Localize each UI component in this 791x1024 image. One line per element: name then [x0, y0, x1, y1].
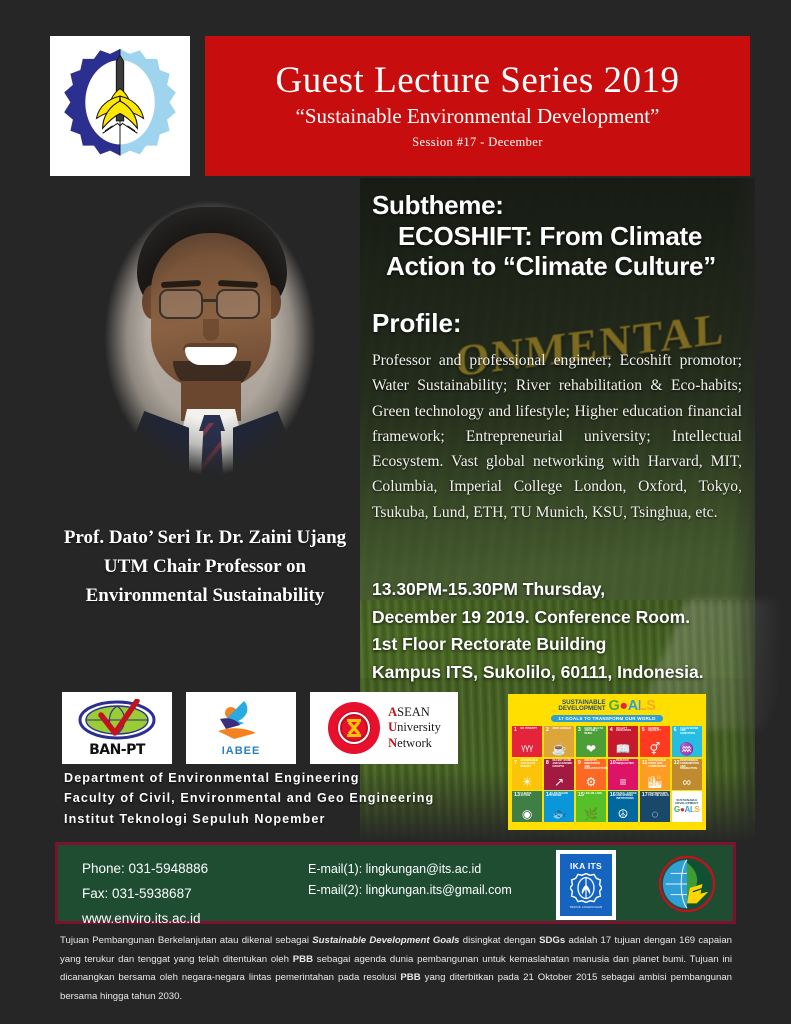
iabee-figure-icon [204, 699, 278, 743]
department-line1: Department of Environmental Engineering [64, 768, 494, 788]
aun-a: A [388, 705, 397, 719]
sdg-goal-16: 16PEACE, JUSTICE AND STRONG INSTITUTIONS… [608, 791, 638, 822]
sdg-goal-title: ZERO HUNGER [552, 728, 573, 731]
sdg-goal-number: 14 [546, 792, 552, 798]
content-column: Subtheme: ECOSHIFT: From Climate Action … [372, 190, 752, 525]
note-em-sdg: Sustainable Development Goals [312, 935, 459, 946]
sdg-goal-number: 12 [674, 760, 680, 766]
banpt-logo: BAN-PT [62, 692, 172, 764]
sdg-goal-icon: ◉ [512, 808, 542, 820]
note-part1: Tujuan Pembangunan Berkelanjutan atau di… [60, 935, 312, 946]
sdg-goal-title: SUSTAINABLE CITIES AND COMMUNITIES [648, 760, 669, 768]
sdg-goal-10: 10REDUCED INEQUALITIES≡ [608, 759, 638, 790]
event-campus: Kampus ITS, Sukolilo, 60111, Indonesia. [372, 659, 762, 687]
sdg-goal-icon: 🏙 [640, 776, 670, 788]
sdg-word-development: DEVELOPMENT [558, 706, 605, 713]
note-b-pbb2: PBB [400, 972, 420, 983]
sdg-note: Tujuan Pembangunan Berkelanjutan atau di… [60, 932, 732, 1007]
sdg-goal-number: 16 [610, 792, 616, 798]
sdg-goal-number: 3 [578, 727, 581, 733]
sdg-goal-icon: 🌿 [576, 808, 606, 820]
aun-niversity: niversity [397, 720, 441, 734]
contact-email-1[interactable]: E-mail(1): lingkungan@its.ac.id [308, 859, 512, 880]
sdg-goal-11: 11SUSTAINABLE CITIES AND COMMUNITIES🏙 [640, 759, 670, 790]
sdg-goal-number: 2 [546, 727, 549, 733]
sdg-goal-icon: ↗ [544, 776, 574, 788]
sdg-goal-17: 17PARTNERSHIPS FOR THE GOALS◌ [640, 791, 670, 822]
ika-its-logo: IKA ITS TEKNIK LINGKUNGAN [556, 850, 616, 920]
speaker-portrait-image [85, 185, 335, 510]
ika-its-title: IKA ITS [570, 861, 602, 871]
subtheme-label: Subtheme: [372, 190, 504, 220]
contact-website[interactable]: www.enviro.its.ac.id [82, 907, 208, 932]
sdg-goal-number: 10 [610, 760, 616, 766]
sdg-goal-icon: ☀ [512, 776, 542, 788]
sdg-goal-number: 13 [514, 792, 520, 798]
sdg-goal-title: DECENT WORK AND ECONOMIC GROWTH [552, 760, 573, 768]
sdg-goal-icon: ♒ [672, 743, 702, 755]
sdg-goal-title: PEACE, JUSTICE AND STRONG INSTITUTIONS [616, 793, 637, 801]
speaker-portrait [85, 185, 335, 510]
ika-its-subtitle: TEKNIK LINGKUNGAN [570, 905, 603, 909]
event-details: 13.30PM-15.30PM Thursday, December 19 20… [372, 576, 762, 687]
sdg-logo-tile: SUSTAINABLEDEVELOPMENTG●ALS [672, 791, 702, 822]
event-time: 13.30PM-15.30PM Thursday, [372, 576, 762, 604]
sdg-goal-icon: ⚙ [576, 776, 606, 788]
portrait-nose [203, 319, 219, 341]
iabee-logo: IABEE [186, 692, 296, 764]
sdg-goal-title: CLIMATE ACTION [521, 793, 542, 799]
portrait-mouth [185, 347, 237, 365]
contact-fax: Fax: 031-5938687 [82, 882, 208, 907]
sdg-goal-number: 6 [674, 727, 677, 733]
subtheme-block: Subtheme: ECOSHIFT: From Climate Action … [372, 190, 752, 282]
sdg-goal-14: 14LIFE BELOW WATER🐟 [544, 791, 574, 822]
sdg-goal-2: 2ZERO HUNGER☕ [544, 726, 574, 757]
sdg-ribbon: 17 GOALS TO TRANSFORM OUR WORLD [551, 715, 662, 722]
sdg-goal-number: 11 [642, 760, 648, 766]
sdg-goal-number: 15 [578, 792, 584, 798]
its-logo-svg [58, 44, 182, 168]
aun-sean: SEAN [397, 705, 430, 719]
sdg-goal-5: 5GENDER EQUALITY⚥ [640, 726, 670, 757]
ika-its-gear-icon [570, 872, 602, 904]
accreditation-logos: BAN-PT IABEE ASEAN Uni [62, 692, 458, 764]
speaker-info: Prof. Dato’ Seri Ir. Dr. Zaini Ujang UTM… [40, 524, 370, 611]
sdg-goal-title: CLEAN WATER AND SANITATION [680, 728, 701, 736]
sdg-goal-title: QUALITY EDUCATION [616, 728, 637, 734]
sdg-goal-title: REDUCED INEQUALITIES [616, 760, 637, 766]
iabee-label: IABEE [222, 745, 261, 757]
portrait-glasses-right [216, 289, 260, 319]
sdg-goal-title: LIFE ON LAND [584, 793, 605, 796]
aun-u: U [388, 720, 397, 734]
portrait-jacket-right [233, 411, 319, 510]
event-floor: 1st Floor Rectorate Building [372, 631, 762, 659]
page-title: Guest Lecture Series 2019 [205, 62, 750, 101]
sdg-goal-icon: 📖 [608, 743, 638, 755]
speaker-name: Prof. Dato’ Seri Ir. Dr. Zaini Ujang [40, 524, 370, 553]
sdg-goal-icon: ☕ [544, 743, 574, 755]
sdg-goal-3: 3GOOD HEALTH AND WELL-BEING❤ [576, 726, 606, 757]
portrait-jacket-left [103, 411, 189, 510]
note-b-pbb1: PBB [293, 954, 313, 965]
sdg-goal-title: RESPONSIBLE CONSUMPTION AND PRODUCTION [680, 760, 701, 771]
note-part2: disingkat dengan [459, 935, 539, 946]
speaker-title-line1: UTM Chair Professor on [40, 553, 370, 582]
sdg-goal-number: 4 [610, 727, 613, 733]
sdg-goal-number: 8 [546, 760, 549, 766]
contact-footer: Phone: 031-5948886 Fax: 031-5938687 www.… [55, 842, 736, 924]
sdg-goal-1: 1NO POVERTYᵞᵞᵞ [512, 726, 542, 757]
sdg-logo-tile-goals: G●ALS [674, 805, 700, 814]
header-subtitle: “Sustainable Environmental Development” [205, 105, 750, 128]
portrait-glasses-left [159, 289, 203, 319]
sdg-header: SUSTAINABLE DEVELOPMENT G●ALS 17 GOALS T… [512, 697, 702, 724]
sdg-goal-6: 6CLEAN WATER AND SANITATION♒ [672, 726, 702, 757]
department-info: Department of Environmental Engineering … [64, 768, 494, 829]
sdg-goal-number: 1 [514, 727, 517, 733]
sdg-goal-12: 12RESPONSIBLE CONSUMPTION AND PRODUCTION… [672, 759, 702, 790]
sdg-goal-15: 15LIFE ON LAND🌿 [576, 791, 606, 822]
subtheme-line2: Action to “Climate Culture” [372, 251, 752, 282]
sdg-goal-title: PARTNERSHIPS FOR THE GOALS [648, 793, 669, 799]
sdg-header-row: SUSTAINABLE DEVELOPMENT G●ALS [558, 699, 655, 714]
aun-n: N [388, 736, 397, 750]
sdg-goal-13: 13CLIMATE ACTION◉ [512, 791, 542, 822]
ika-its-badge: IKA ITS TEKNIK LINGKUNGAN [560, 854, 612, 916]
banpt-label: BAN-PT [89, 742, 145, 758]
sdg-goal-icon: ⚥ [640, 743, 670, 755]
sdg-goal-title: INDUSTRY, INNOVATION AND INFRASTRUCTURE [584, 760, 605, 771]
department-line2: Faculty of Civil, Environmental and Geo … [64, 788, 494, 808]
sdg-goal-4: 4QUALITY EDUCATION📖 [608, 726, 638, 757]
sdg-goal-icon: 🐟 [544, 808, 574, 820]
sdg-goal-number: 17 [642, 792, 648, 798]
aun-emblem-icon [327, 701, 381, 755]
sdg-goal-icon: ☮ [608, 808, 638, 820]
sdg-header-words: SUSTAINABLE DEVELOPMENT [558, 700, 605, 713]
aun-etwork: etwork [397, 736, 432, 750]
event-date-venue: December 19 2019. Conference Room. [372, 604, 762, 632]
sdg-goal-icon: ∞ [672, 776, 702, 788]
sdg-goal-grid: 1NO POVERTYᵞᵞᵞ2ZERO HUNGER☕3GOOD HEALTH … [512, 726, 702, 822]
sdg-goal-number: 9 [578, 760, 581, 766]
header-session: Session #17 - December [205, 135, 750, 150]
speaker-title-line2: Environmental Sustainability [40, 582, 370, 611]
profile-body: Professor and professional engineer; Eco… [372, 348, 742, 525]
sdg-goal-title: GOOD HEALTH AND WELL-BEING [584, 728, 605, 736]
sdg-goal-icon: ᵞᵞᵞ [512, 743, 542, 755]
sdg-goal-7: 7AFFORDABLE AND CLEAN ENERGY☀ [512, 759, 542, 790]
sdg-goal-title: GENDER EQUALITY [648, 728, 669, 734]
asean-university-network-logo: ASEAN University Network [310, 692, 458, 764]
sdg-goal-number: 7 [514, 760, 517, 766]
department-line3: Institut Teknologi Sepuluh Nopember [64, 809, 494, 829]
sdg-goal-9: 9INDUSTRY, INNOVATION AND INFRASTRUCTURE… [576, 759, 606, 790]
subtheme-line1: ECOSHIFT: From Climate [372, 221, 752, 252]
poster: ONMENTAL [0, 0, 791, 1024]
environmental-engineering-logo [658, 855, 716, 913]
sdg-goal-8: 8DECENT WORK AND ECONOMIC GROWTH↗ [544, 759, 574, 790]
contact-phone: Phone: 031-5948886 [82, 857, 208, 882]
sdg-goal-title: LIFE BELOW WATER [552, 793, 573, 799]
contact-left: Phone: 031-5948886 Fax: 031-5938687 www.… [82, 857, 208, 932]
sdg-panel: SUSTAINABLE DEVELOPMENT G●ALS 17 GOALS T… [508, 694, 706, 830]
its-logo [50, 36, 190, 176]
contact-right: E-mail(1): lingkungan@its.ac.id E-mail(2… [308, 859, 512, 902]
banpt-globe-icon [77, 699, 157, 741]
sdg-word-goals: G●ALS [609, 699, 656, 714]
contact-email-2[interactable]: E-mail(2): lingkungan.its@gmail.com [308, 880, 512, 901]
portrait-glasses-bridge [202, 299, 217, 302]
header: Guest Lecture Series 2019 “Sustainable E… [50, 36, 750, 176]
profile-label: Profile: [372, 308, 752, 339]
sdg-goal-title: NO POVERTY [521, 728, 542, 731]
note-b-sdgs: SDGs [539, 935, 565, 946]
sdg-goal-title: AFFORDABLE AND CLEAN ENERGY [521, 760, 542, 768]
sdg-goal-icon: ◌ [640, 808, 670, 820]
sdg-goal-icon: ❤ [576, 743, 606, 755]
sdg-goal-icon: ≡ [608, 776, 638, 788]
header-banner: Guest Lecture Series 2019 “Sustainable E… [205, 36, 750, 176]
aun-label: ASEAN University Network [388, 705, 441, 751]
sdg-goal-number: 5 [642, 727, 645, 733]
